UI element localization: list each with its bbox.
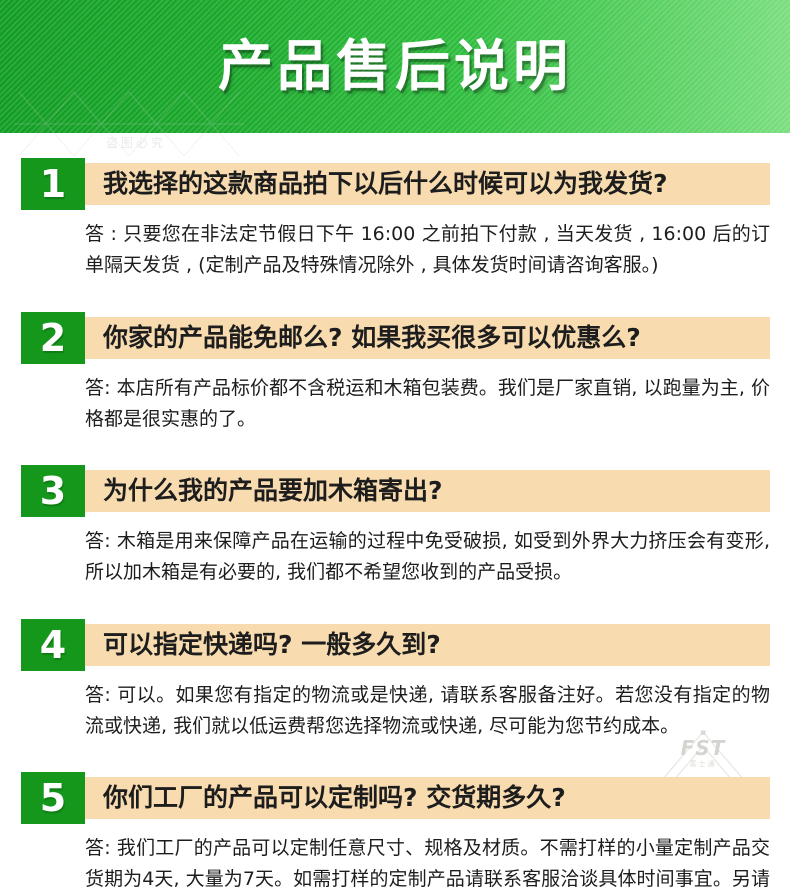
- faq-number-badge: 1: [21, 158, 85, 210]
- faq-question-text: 可以指定快递吗? 一般多久到?: [103, 619, 764, 671]
- page-header-banner: 产品售后说明: [0, 0, 790, 133]
- faq-question-row: 4 可以指定快递吗? 一般多久到?: [21, 619, 770, 671]
- faq-item: 3 为什么我的产品要加木箱寄出? 答: 木箱是用来保障产品在运输的过程中免受破损…: [0, 435, 790, 588]
- faq-item: 2 你家的产品能免邮么? 如果我买很多可以优惠么? 答: 本店所有产品标价都不含…: [0, 281, 790, 435]
- faq-number-badge: 4: [21, 619, 85, 671]
- page-title: 产品售后说明: [0, 24, 790, 108]
- faq-question-text: 为什么我的产品要加木箱寄出?: [103, 465, 764, 517]
- faq-question-text: 你家的产品能免邮么? 如果我买很多可以优惠么?: [103, 312, 764, 364]
- faq-answer-text: 答: 本店所有产品标价都不含税运和木箱包装费。我们是厂家直销, 以跑量为主, 价…: [85, 373, 770, 435]
- faq-list: 1 我选择的这款商品拍下以后什么时候可以为我发货? 答 : 只要您在非法定节假日…: [0, 133, 790, 888]
- faq-answer-text: 答: 可以。如果您有指定的物流或是快递, 请联系客服备注好。若您没有指定的物流或…: [85, 680, 770, 742]
- product-after-sales-page: 产品售后说明 盗图必究 ▪ FST 富士通 实物拍摄: [0, 0, 790, 888]
- faq-question-row: 1 我选择的这款商品拍下以后什么时候可以为我发货?: [21, 158, 770, 210]
- faq-number-badge: 3: [21, 465, 85, 517]
- faq-answer-text: 答: 我们工厂的产品可以定制任意尺寸、规格及材质。不需打样的小量定制产品交货期为…: [85, 833, 770, 888]
- faq-number-badge: 2: [21, 312, 85, 364]
- faq-answer-text: 答: 木箱是用来保障产品在运输的过程中免受破损, 如受到外界大力挤压会有变形, …: [85, 526, 770, 588]
- faq-item: 4 可以指定快递吗? 一般多久到? 答: 可以。如果您有指定的物流或是快递, 请…: [0, 588, 790, 742]
- faq-item: 5 你们工厂的产品可以定制吗? 交货期多久? 答: 我们工厂的产品可以定制任意尺…: [0, 742, 790, 888]
- faq-item: 1 我选择的这款商品拍下以后什么时候可以为我发货? 答 : 只要您在非法定节假日…: [0, 133, 790, 281]
- faq-question-row: 2 你家的产品能免邮么? 如果我买很多可以优惠么?: [21, 312, 770, 364]
- faq-question-row: 3 为什么我的产品要加木箱寄出?: [21, 465, 770, 517]
- faq-question-row: 5 你们工厂的产品可以定制吗? 交货期多久?: [21, 772, 770, 824]
- faq-question-text: 我选择的这款商品拍下以后什么时候可以为我发货?: [103, 158, 764, 210]
- faq-answer-text: 答 : 只要您在非法定节假日下午 16:00 之前拍下付款 , 当天发货 , 1…: [85, 219, 770, 281]
- faq-question-text: 你们工厂的产品可以定制吗? 交货期多久?: [103, 772, 764, 824]
- faq-number-badge: 5: [21, 772, 85, 824]
